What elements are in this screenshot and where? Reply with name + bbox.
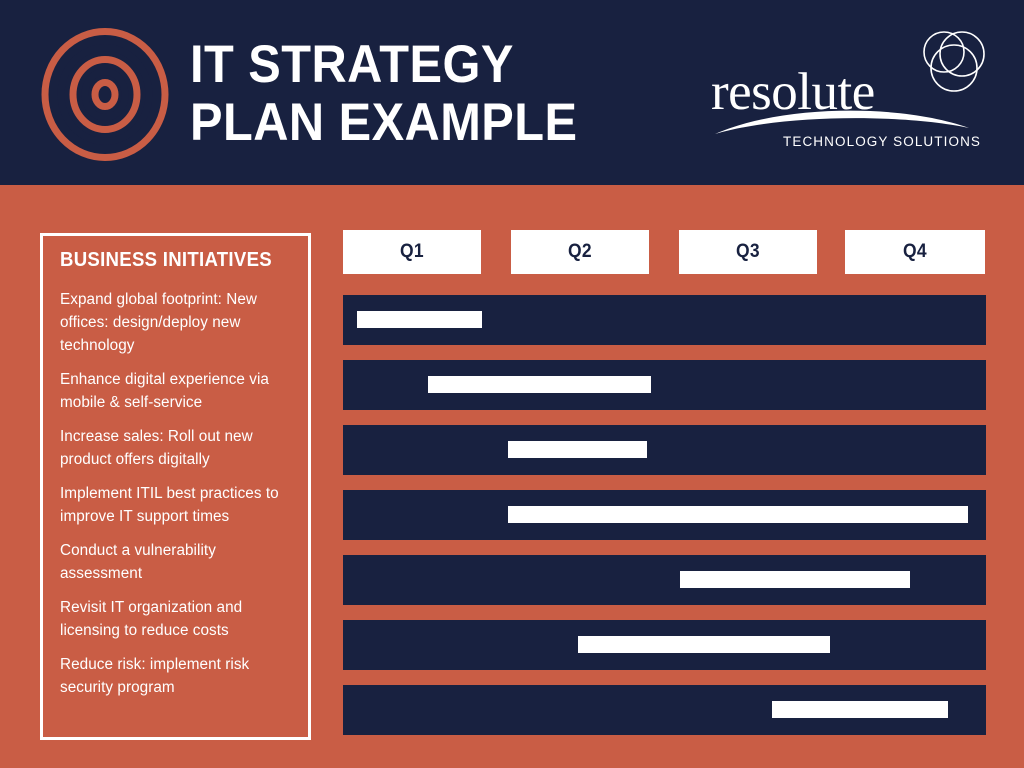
initiative-item: Increase sales: Roll out new product off… [43,425,308,471]
brand-logo: resolute TECHNOLOGY SOLUTIONS [711,28,996,158]
initiative-item: Reduce risk: implement risk security pro… [43,653,308,699]
initiative-item: Conduct a vulnerability assessment [43,539,308,585]
gantt-bar [508,506,968,523]
gantt-row [343,360,986,410]
overlapping-circles-icon [916,28,990,98]
logo-swoosh-icon [713,106,971,136]
gantt-chart [343,295,986,735]
quarter-header-q1: Q1 [343,230,481,274]
gantt-bar [428,376,651,393]
gantt-row [343,620,986,670]
quarter-header-q2: Q2 [511,230,649,274]
business-initiatives-panel: BUSINESS INITIATIVES Expand global footp… [40,233,311,740]
sidebar-title: BUSINESS INITIATIVES [60,249,291,272]
gantt-row [343,425,986,475]
page-header: IT STRATEGY PLAN EXAMPLE resolute TECHNO… [0,0,1024,185]
initiative-item: Expand global footprint: New offices: de… [43,288,308,357]
quarter-label: Q1 [400,241,424,263]
quarter-label: Q3 [736,241,760,263]
gantt-bar [508,441,647,458]
gantt-row [343,555,986,605]
quarter-header-q3: Q3 [679,230,817,274]
page-title-line-2: PLAN EXAMPLE [190,94,668,152]
gantt-bar [357,311,482,328]
page-title-line-1: IT STRATEGY [190,36,668,94]
gantt-row [343,490,986,540]
gantt-row [343,295,986,345]
initiative-item: Enhance digital experience via mobile & … [43,368,308,414]
quarter-label: Q2 [568,241,592,263]
target-bullseye-icon [40,27,170,162]
quarter-label: Q4 [903,241,927,263]
gantt-bar [772,701,948,718]
initiative-item: Implement ITIL best practices to improve… [43,482,308,528]
gantt-row [343,685,986,735]
quarter-header-q4: Q4 [845,230,985,274]
gantt-bar [680,571,910,588]
gantt-bar [578,636,830,653]
logo-tagline: TECHNOLOGY SOLUTIONS [783,134,981,149]
initiatives-list: Expand global footprint: New offices: de… [43,288,308,699]
page-title: IT STRATEGY PLAN EXAMPLE [190,36,710,152]
initiative-item: Revisit IT organization and licensing to… [43,596,308,642]
quarter-header-row: Q1Q2Q3Q4 [343,230,986,274]
